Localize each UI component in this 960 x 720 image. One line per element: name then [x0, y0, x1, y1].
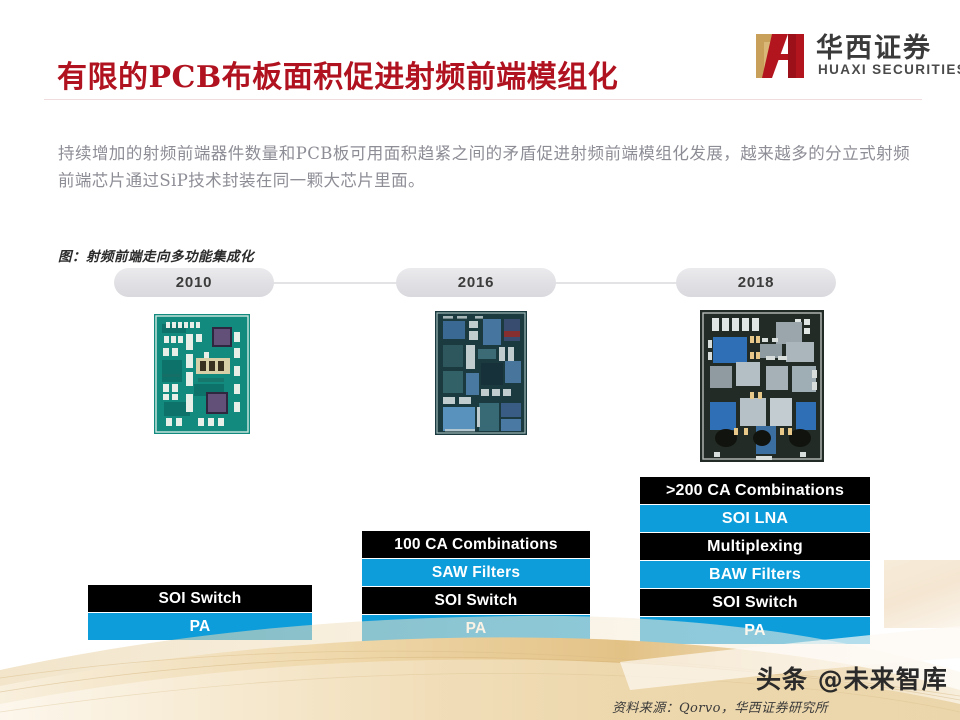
huaxi-h-monogram-icon: [752, 28, 808, 84]
timeline-year-label: 2010: [176, 274, 213, 291]
stack-bar-label: SAW Filters: [432, 564, 520, 582]
capability-stack-2018: >200 CA Combinations SOI LNA Multiplexin…: [640, 477, 870, 645]
timeline-pill-2018: 2018: [676, 268, 836, 297]
stack-bar: SAW Filters: [362, 559, 590, 586]
page-title: 有限的PCB布板面积促进射频前端模组化: [57, 52, 618, 96]
timeline-year-label: 2016: [458, 274, 495, 291]
stack-bar-label: PA: [190, 618, 211, 636]
stack-bar: SOI Switch: [640, 589, 870, 616]
timeline-pill-2016: 2016: [396, 268, 556, 297]
stack-bar-label: SOI Switch: [159, 590, 242, 608]
stack-bar: SOI Switch: [88, 585, 312, 612]
stack-bar: PA: [88, 613, 312, 640]
stack-bar: 100 CA Combinations: [362, 531, 590, 558]
stack-bar-label: 100 CA Combinations: [394, 536, 557, 554]
pcb-photo-2010: [151, 311, 253, 437]
pcb-2010-artwork: [154, 314, 250, 434]
stack-bar: >200 CA Combinations: [640, 477, 870, 504]
stack-bar-label: Multiplexing: [707, 538, 803, 556]
stack-bar: PA: [640, 617, 870, 644]
capability-stack-2010: SOI Switch PA: [88, 585, 312, 641]
company-logo: 华西证券 HUAXI SECURITIES: [752, 26, 942, 88]
stack-bar-label: SOI LNA: [722, 510, 788, 528]
pcb-2018-artwork: [700, 310, 824, 462]
pcb-photo-2018: [697, 307, 827, 465]
stack-bar-label: SOI Switch: [435, 592, 518, 610]
capability-stack-2016: 100 CA Combinations SAW Filters SOI Swit…: [362, 531, 590, 643]
lead-paragraph: 持续增加的射频前端器件数量和PCB板可用面积趋紧之间的矛盾促进射频前端模组化发展…: [58, 140, 910, 194]
stack-bar: SOI LNA: [640, 505, 870, 532]
stack-bar-label: SOI Switch: [712, 594, 798, 612]
watermark-text: 头条 @未来智库: [756, 660, 948, 696]
timeline-connector-1: [272, 282, 402, 284]
logo-english-name: HUAXI SECURITIES: [818, 62, 960, 77]
stack-bar-label: BAW Filters: [709, 566, 801, 584]
pcb-2016-artwork: [435, 311, 527, 435]
pcb-photo-2016: [432, 308, 530, 438]
stack-bar: BAW Filters: [640, 561, 870, 588]
stack-bar-label: PA: [466, 620, 487, 638]
source-note: 资料来源：Qorvo，华西证券研究所: [612, 697, 828, 716]
slide-canvas: 华西证券 HUAXI SECURITIES 有限的PCB布板面积促进射频前端模组…: [0, 0, 960, 720]
logo-chinese-name: 华西证券: [816, 26, 932, 65]
timeline-connector-2: [552, 282, 682, 284]
timeline-pill-2010: 2010: [114, 268, 274, 297]
stack-bar: PA: [362, 615, 590, 642]
right-edge-ribbon: [884, 560, 960, 628]
stack-bar-label: >200 CA Combinations: [666, 482, 844, 500]
stack-bar-label: PA: [744, 622, 765, 640]
figure-caption: 图：射频前端走向多功能集成化: [58, 245, 254, 265]
stack-bar: SOI Switch: [362, 587, 590, 614]
stack-bar: Multiplexing: [640, 533, 870, 560]
timeline-year-label: 2018: [738, 274, 775, 291]
title-divider: [44, 99, 922, 100]
